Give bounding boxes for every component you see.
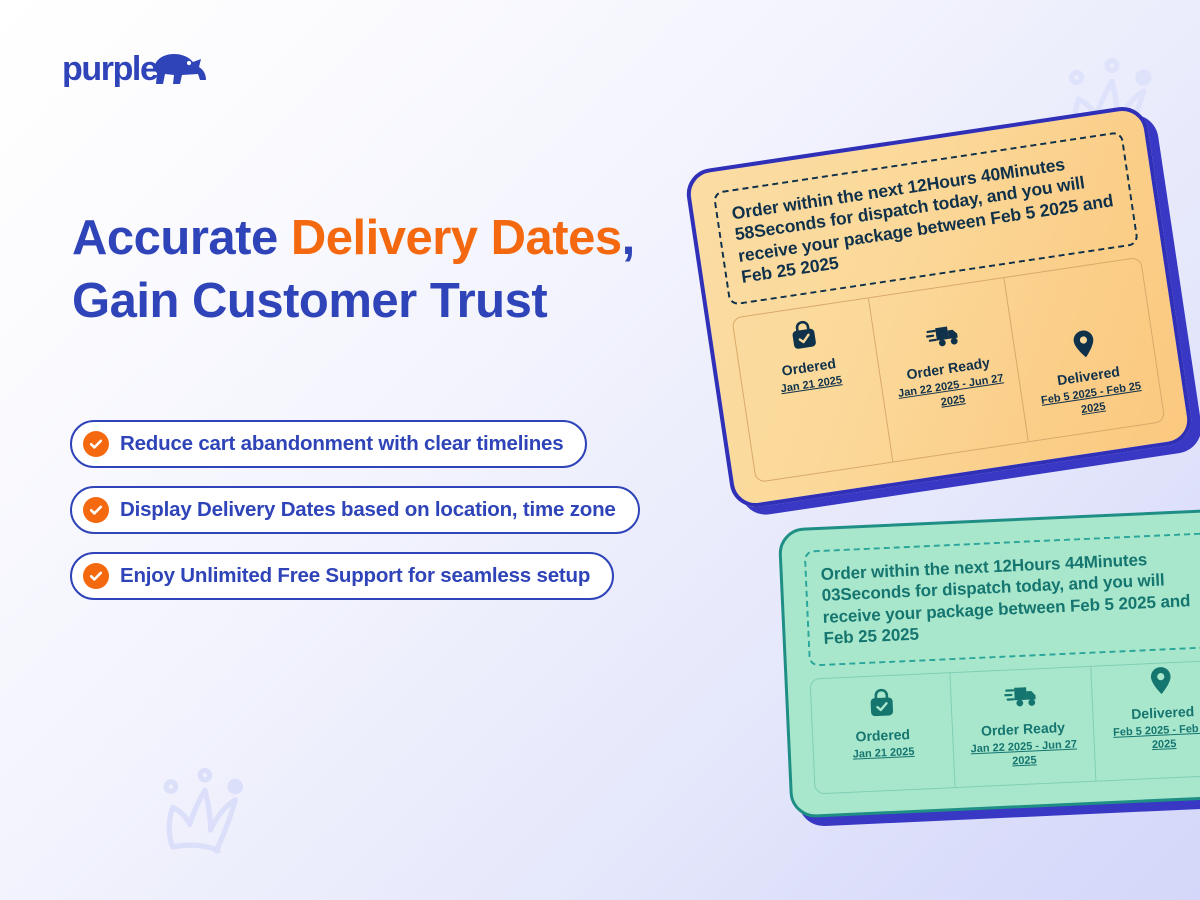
delivery-card-green: Order within the next 12Hours 44Minutes … (778, 507, 1200, 818)
timeline-step-date: Jan 22 2025 - Jun 27 2025 (960, 737, 1088, 771)
timeline-step-ordered: Ordered Jan 21 2025 (811, 673, 956, 794)
feature-pill-3[interactable]: Enjoy Unlimited Free Support for seamles… (70, 552, 614, 600)
timeline-step-ordered: Ordered Jan 21 2025 (733, 299, 893, 482)
timeline-step-delivered: Delivered Feb 5 2025 - Feb 25 2025 (1005, 258, 1164, 441)
timeline-step-date: Jan 21 2025 (820, 743, 948, 763)
feature-pill-2[interactable]: Display Delivery Dates based on location… (70, 486, 640, 534)
timeline-step-title: Order Ready (959, 718, 1087, 740)
timeline-step-title: Delivered (1099, 701, 1200, 723)
timeline-step-title: Ordered (819, 724, 947, 746)
countdown-note-text: Order within the next 12Hours 44Minutes … (820, 546, 1200, 649)
timeline-step-order-ready: Order Ready Jan 22 2025 - Jun 27 2025 (951, 666, 1096, 787)
check-circle-icon (83, 431, 109, 457)
check-circle-icon (83, 563, 109, 589)
feature-list: Reduce cart abandonment with clear timel… (70, 420, 790, 618)
feature-pill-label: Reduce cart abandonment with clear timel… (120, 432, 563, 456)
delivery-truck-icon (957, 679, 1086, 719)
order-timeline-green: Ordered Jan 21 2025 Order Ready Jan 22 2… (809, 659, 1200, 795)
bag-check-icon (817, 685, 946, 725)
brand-logo-text: purple (62, 50, 158, 88)
feature-pill-label: Enjoy Unlimited Free Support for seamles… (120, 564, 590, 588)
timeline-step-order-ready: Order Ready Jan 22 2025 - Jun 27 2025 (869, 278, 1029, 461)
brand-logo[interactable]: purple (62, 44, 232, 96)
bear-icon (154, 54, 206, 84)
headline-part-1: Accurate (72, 211, 291, 265)
delivery-card-orange: Order within the next 12Hours 40Minutes … (683, 103, 1194, 510)
timeline-step-delivered: Delivered Feb 5 2025 - Feb 25 2025 (1091, 660, 1200, 781)
headline-accent: Delivery Dates (291, 211, 622, 265)
location-pin-icon (1097, 662, 1200, 702)
feature-pill-label: Display Delivery Dates based on location… (120, 498, 616, 522)
page-title: Accurate Delivery Dates, Gain Customer T… (72, 207, 672, 332)
crown-icon-bottom-left (152, 762, 256, 858)
countdown-note-green: Order within the next 12Hours 44Minutes … (804, 532, 1200, 667)
check-circle-icon (83, 497, 109, 523)
feature-pill-1[interactable]: Reduce cart abandonment with clear timel… (70, 420, 587, 468)
countdown-note-text: Order within the next 12Hours 40Minutes … (730, 147, 1120, 288)
timeline-step-date: Feb 5 2025 - Feb 25 2025 (1100, 720, 1200, 754)
